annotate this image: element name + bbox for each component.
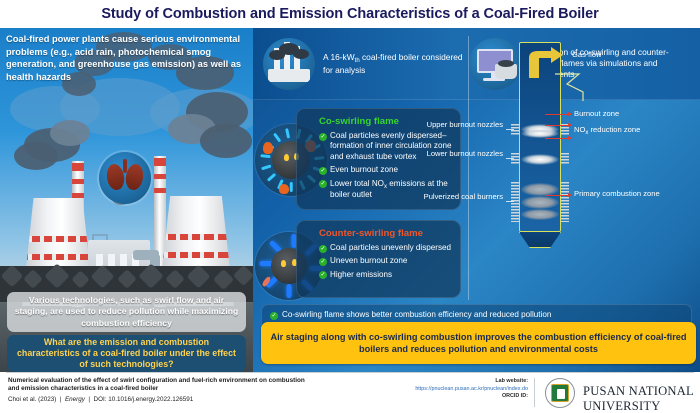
- bullet-subscript: x: [384, 184, 387, 190]
- citation-title: Numerical evaluation of the effect of sw…: [8, 377, 308, 394]
- key-finding-banner: Air staging along with co-swirling combu…: [261, 322, 696, 364]
- citation-meta: Choi et al. (2023) | Energy | DOI: 10.10…: [8, 396, 193, 403]
- lung-lobe-right: [124, 163, 145, 191]
- leader-tick: [506, 129, 514, 130]
- citation-doi: DOI: 10.1016/j.energy.2022.126591: [94, 396, 194, 403]
- nox-label-sub: x: [585, 130, 588, 136]
- right-content-panel: A 16-kWth coal-fired boiler considered f…: [253, 28, 700, 372]
- check-icon: ✓: [319, 167, 327, 175]
- nox-label-pre: NO: [574, 125, 585, 134]
- vertical-divider: [468, 36, 469, 300]
- footer-vertical-divider: [534, 378, 535, 407]
- boiler-hopper: [519, 232, 561, 248]
- seal-emblem: [551, 384, 569, 402]
- tower-stripe: [22, 236, 94, 242]
- boiler-diagram: Gas flow: [473, 28, 700, 300]
- lab-website-label: Lab website:: [300, 378, 528, 386]
- stack-band: [72, 179, 84, 184]
- burnout-zone-label: Burnout zone: [574, 109, 619, 118]
- list-item: ✓Higher emissions: [319, 270, 452, 280]
- check-icon: ✓: [319, 271, 327, 279]
- lower-burnout-nozzle-row: [511, 153, 519, 165]
- co-swirling-bullet-list: ✓Coal particles evenly dispersed–formati…: [319, 131, 452, 200]
- leader-tick: [506, 201, 514, 202]
- overview-text-pre: A 16-kW: [323, 52, 355, 62]
- leader-line: [545, 125, 571, 126]
- pulverized-coal-burner-row: [511, 182, 519, 222]
- title-bar: Study of Combustion and Emission Charact…: [0, 0, 700, 28]
- technologies-statement-text: Various technologies, such as swirl flow…: [13, 295, 240, 330]
- gas-flow-label: Gas flow: [572, 50, 602, 59]
- technologies-statement-box: Various technologies, such as swirl flow…: [7, 292, 246, 332]
- bullet-text: Lower total NO: [330, 179, 384, 188]
- stack-band: [154, 158, 166, 166]
- counter-swirling-flame-card: Counter-swirling flame ✓Coal particles u…: [296, 220, 461, 298]
- intro-statement: Coal-fired power plants cause serious en…: [6, 33, 249, 83]
- conclusion-text: Co-swirling flame shows better combustio…: [282, 310, 551, 319]
- nox-reduction-zone-label: NOx reduction zone: [574, 125, 654, 136]
- tower-stripe: [158, 252, 234, 258]
- smoke-plume: [14, 142, 58, 170]
- citation-journal: Energy: [65, 396, 85, 403]
- primary-swirl-layer: [521, 196, 559, 209]
- check-icon: ✓: [319, 180, 327, 188]
- lab-info-block: Lab website: https://pnuclean.pusan.ac.k…: [300, 378, 528, 401]
- pulverized-coal-burner-row: [561, 182, 569, 222]
- overview-text-sub: th: [355, 58, 360, 64]
- university-seal-icon: [545, 378, 575, 408]
- smoke-plume: [50, 120, 90, 146]
- counter-swirling-heading: Counter-swirling flame: [319, 228, 460, 239]
- boiler-duct: [553, 72, 587, 102]
- key-finding-text: Air staging along with co-swirling combu…: [261, 331, 696, 355]
- infographic-poster: Study of Combustion and Emission Charact…: [0, 0, 700, 413]
- tower-stripe: [22, 254, 94, 260]
- list-item: ✓Co-swirling flame shows better combusti…: [270, 310, 683, 320]
- citation-sep: |: [88, 396, 90, 403]
- footer: Numerical evaluation of the effect of sw…: [0, 372, 700, 413]
- research-question-text: What are the emission and combustion cha…: [13, 337, 240, 371]
- primary-swirl-layer: [521, 209, 559, 220]
- primary-combustion-zone-label: Primary combustion zone: [574, 189, 660, 198]
- overview-item-boiler: A 16-kWth coal-fired boiler considered f…: [263, 38, 463, 90]
- research-question-box: What are the emission and combustion cha…: [7, 335, 246, 372]
- nox-label-post: reduction zone: [588, 125, 640, 134]
- stack-band: [154, 188, 166, 193]
- citation-authors: Choi et al. (2023): [8, 396, 56, 403]
- bullet-text: Uneven burnout zone: [330, 256, 407, 265]
- stack-band: [72, 163, 84, 171]
- check-icon: ✓: [270, 312, 278, 320]
- burnout-swirl-layer: [521, 129, 559, 138]
- lower-burnout-nozzle-row: [561, 153, 569, 165]
- stack-band: [72, 193, 84, 198]
- university-name: PUSAN NATIONAL UNIVERSITY: [583, 384, 700, 413]
- leader-line: [545, 114, 571, 115]
- leader-line: [545, 195, 571, 196]
- leader-tick: [506, 158, 514, 159]
- check-icon: ✓: [319, 245, 327, 253]
- bullet-text: Even burnout zone: [330, 165, 398, 174]
- page-title: Study of Combustion and Emission Charact…: [101, 6, 598, 22]
- list-item: ✓Uneven burnout zone: [319, 256, 452, 266]
- bullet-text: Coal particles unevenly dispersed: [330, 243, 451, 252]
- citation-sep: |: [60, 396, 62, 403]
- stack-band: [154, 174, 166, 179]
- check-icon: ✓: [319, 133, 327, 141]
- leader-line: [545, 138, 571, 139]
- list-item: ✓Even burnout zone: [319, 165, 452, 175]
- pulverized-coal-burners-label: Pulverized coal burners: [403, 192, 503, 201]
- lungs-icon: [99, 152, 151, 204]
- power-plant-icon: [263, 38, 315, 90]
- check-icon: ✓: [319, 258, 327, 266]
- upper-burnout-nozzle-row: [511, 124, 519, 136]
- smoke-plume: [200, 124, 252, 158]
- list-item: ✓Coal particles unevenly dispersed: [319, 243, 452, 253]
- lower-burnout-swirl-layer: [521, 154, 559, 165]
- upper-burnout-nozzles-label: Upper burnout nozzles: [403, 120, 503, 129]
- overview-item-boiler-text: A 16-kWth coal-fired boiler considered f…: [323, 52, 463, 76]
- footer-divider: [6, 372, 694, 373]
- lower-burnout-nozzles-label: Lower burnout nozzles: [403, 149, 503, 158]
- counter-swirling-bullet-list: ✓Coal particles unevenly dispersed ✓Unev…: [319, 243, 452, 280]
- tower-stripe: [158, 234, 234, 240]
- left-illustration-panel: Coal-fired power plants cause serious en…: [0, 28, 253, 372]
- orcid-id-label: ORCID ID:: [300, 393, 528, 401]
- lab-website-url[interactable]: https://pnuclean.pusan.ac.kr/pnuclean/in…: [300, 386, 528, 394]
- bullet-text: Higher emissions: [330, 270, 392, 279]
- poster-body: Coal-fired power plants cause serious en…: [0, 28, 700, 372]
